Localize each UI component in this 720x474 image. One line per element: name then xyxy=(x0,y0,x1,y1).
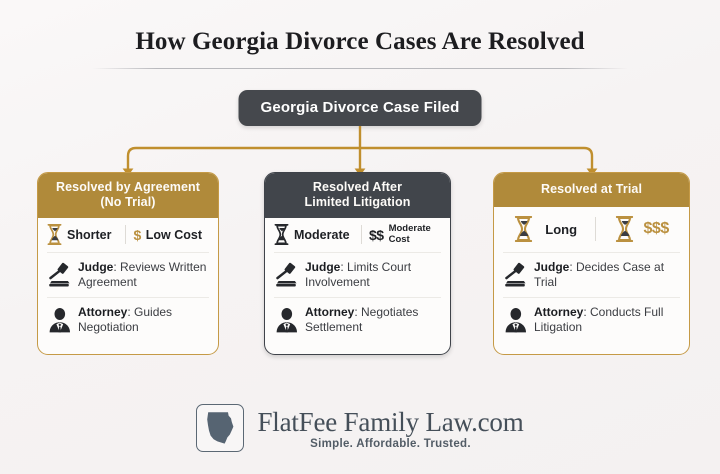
attorney-separator: : xyxy=(127,305,134,319)
metric-divider xyxy=(595,217,596,241)
connector-svg xyxy=(0,126,720,176)
judge-text: Judge: Limits Court Involvement xyxy=(300,260,441,290)
attorney-row: Attorney: Negotiates Settlement xyxy=(274,297,441,342)
attorney-text: Attorney: Conducts Full Litigation xyxy=(529,305,680,335)
attorney-role: Attorney xyxy=(305,305,354,319)
footer-logo[interactable]: FlatFee Family Law.com Simple. Affordabl… xyxy=(0,404,720,452)
judge-row: Judge: Decides Case at Trial xyxy=(503,252,680,297)
judge-separator: : xyxy=(113,260,120,274)
cost-metric: $$ Moderate Cost xyxy=(369,224,441,245)
dollar-icon: $ xyxy=(133,227,140,243)
card-body: Shorter $ Low Cost Judge: Rev xyxy=(38,218,218,342)
hourglass-icon xyxy=(47,224,62,245)
judge-text: Judge: Decides Case at Trial xyxy=(529,260,680,290)
cost-sublabel: Moderate Cost xyxy=(389,224,437,245)
cost-metric: $$$ xyxy=(603,216,680,242)
attorney-separator: : xyxy=(583,305,590,319)
metric-divider xyxy=(361,225,362,244)
attorney-icon xyxy=(503,307,529,333)
judge-text: Judge: Reviews Written Agreement xyxy=(73,260,209,290)
hourglass-icon xyxy=(615,216,634,242)
duration-metric: Long xyxy=(503,216,588,242)
card-header: Resolved After Limited Litigation xyxy=(265,173,450,218)
card-header: Resolved by Agreement (No Trial) xyxy=(38,173,218,218)
attorney-icon xyxy=(47,307,73,333)
infographic-page: How Georgia Divorce Cases Are Resolved G… xyxy=(0,0,720,474)
card-header-line2: Limited Litigation xyxy=(271,195,444,210)
card-header-line1: Resolved at Trial xyxy=(500,182,683,197)
judge-row: Judge: Limits Court Involvement xyxy=(274,252,441,297)
attorney-separator: : xyxy=(354,305,361,319)
card-header-line1: Resolved by Agreement xyxy=(44,180,212,195)
attorney-text: Attorney: Guides Negotiation xyxy=(73,305,209,335)
judge-row: Judge: Reviews Written Agreement xyxy=(47,252,209,297)
card-resolved-at-trial[interactable]: Resolved at Trial Long xyxy=(493,172,690,355)
judge-role: Judge xyxy=(78,260,113,274)
attorney-row: Attorney: Guides Negotiation xyxy=(47,297,209,342)
duration-metric: Shorter xyxy=(47,224,118,245)
connector-group xyxy=(0,126,720,176)
metric-row: Long $$$ xyxy=(503,207,680,252)
attorney-row: Attorney: Conducts Full Litigation xyxy=(503,297,680,342)
gavel-icon xyxy=(47,262,73,288)
title-divider xyxy=(92,68,628,69)
judge-separator: : xyxy=(340,260,347,274)
cost-metric: $ Low Cost xyxy=(133,227,209,243)
card-body: Long $$$ xyxy=(494,207,689,342)
logo-frame xyxy=(196,404,244,452)
duration-label: Moderate xyxy=(294,228,350,242)
georgia-state-outline-icon xyxy=(204,411,236,445)
card-header-line2: (No Trial) xyxy=(44,195,212,210)
dollar-icon: $$ xyxy=(369,227,384,243)
root-node-case-filed: Georgia Divorce Case Filed xyxy=(239,90,482,126)
card-header-line1: Resolved After xyxy=(271,180,444,195)
judge-separator: : xyxy=(569,260,576,274)
cost-label: Low Cost xyxy=(146,228,202,242)
logo-wordmark: FlatFee Family Law.com Simple. Affordabl… xyxy=(257,407,523,450)
judge-role: Judge xyxy=(305,260,340,274)
gavel-icon xyxy=(274,262,300,288)
judge-role: Judge xyxy=(534,260,569,274)
card-resolved-by-agreement[interactable]: Resolved by Agreement (No Trial) Shorter… xyxy=(37,172,219,355)
gavel-icon xyxy=(503,262,529,288)
hourglass-icon xyxy=(514,216,533,242)
hourglass-icon xyxy=(274,224,289,245)
brand-tagline: Simple. Affordable. Trusted. xyxy=(310,438,471,450)
attorney-icon xyxy=(274,307,300,333)
duration-metric: Moderate xyxy=(274,224,354,245)
duration-label: Shorter xyxy=(67,228,111,242)
metric-row: Moderate $$ Moderate Cost xyxy=(274,218,441,252)
attorney-text: Attorney: Negotiates Settlement xyxy=(300,305,441,335)
card-body: Moderate $$ Moderate Cost Jud xyxy=(265,218,450,342)
attorney-role: Attorney xyxy=(534,305,583,319)
metric-divider xyxy=(125,225,126,244)
metric-row: Shorter $ Low Cost xyxy=(47,218,209,252)
dollar-icon: $$$ xyxy=(644,220,669,238)
card-header: Resolved at Trial xyxy=(494,173,689,207)
duration-label: Long xyxy=(545,222,577,237)
page-title: How Georgia Divorce Cases Are Resolved xyxy=(0,28,720,56)
brand-name: FlatFee Family Law.com xyxy=(257,407,523,437)
card-resolved-after-limited-litigation[interactable]: Resolved After Limited Litigation Modera… xyxy=(264,172,451,355)
attorney-role: Attorney xyxy=(78,305,127,319)
